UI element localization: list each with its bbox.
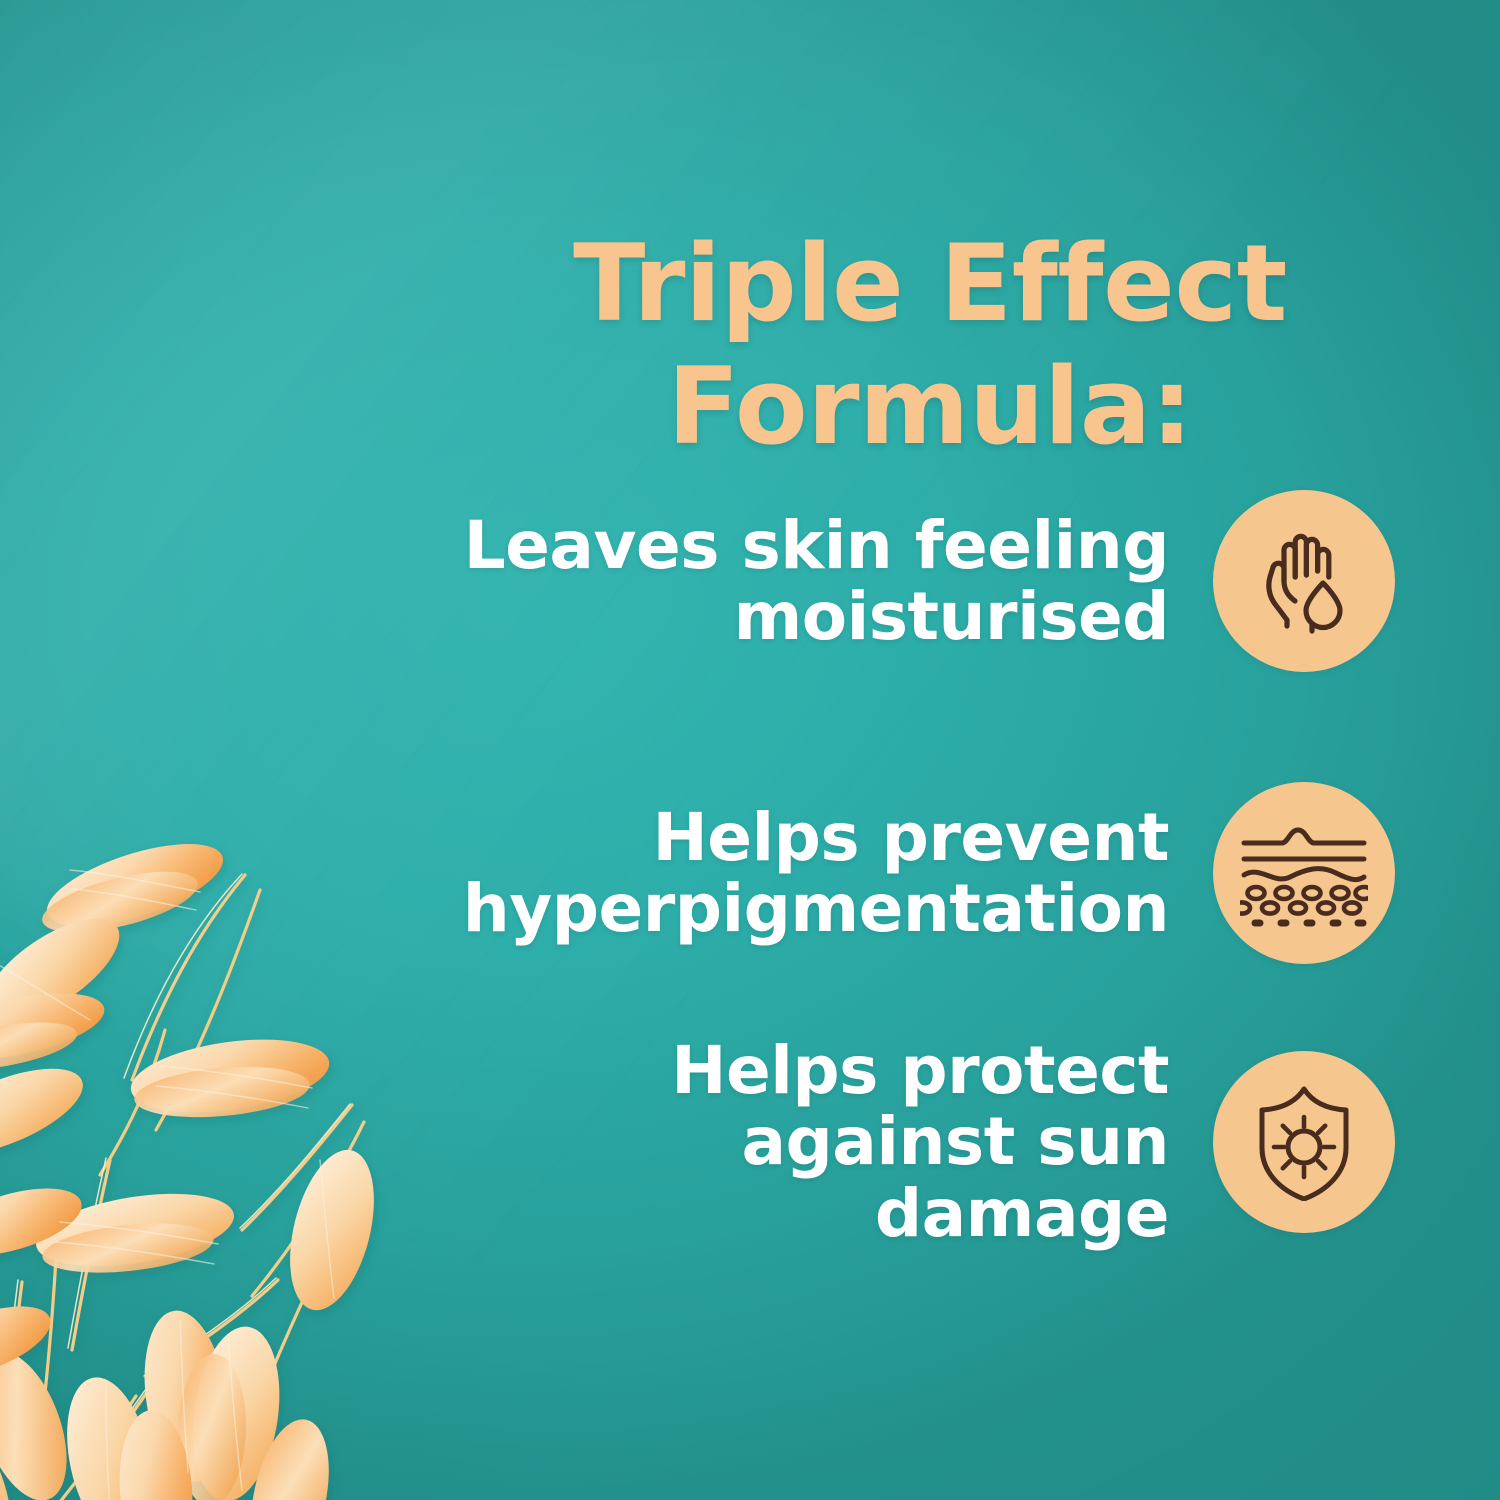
benefit-line: moisturised <box>464 581 1169 652</box>
benefit-icon-badge-moisturised <box>1213 490 1395 672</box>
benefit-line: damage <box>671 1178 1169 1249</box>
benefit-text-moisturised: Leaves skin feeling moisturised <box>464 510 1169 653</box>
skin-layers-icon <box>1240 817 1368 929</box>
benefit-text-hyperpigmentation: Helps prevent hyperpigmentation <box>463 802 1169 945</box>
hand-droplet-icon <box>1248 525 1360 637</box>
benefit-row-hyperpigmentation: Helps prevent hyperpigmentation <box>330 782 1395 964</box>
benefit-row-sun-damage: Helps protect against sun damage <box>330 1035 1395 1249</box>
benefit-icon-badge-sun-damage <box>1213 1051 1395 1233</box>
page-title: Triple Effect Formula: <box>430 223 1430 469</box>
page-title-line-2: Formula: <box>430 346 1430 469</box>
marketing-graphic-canvas: Triple Effect Formula: Leaves skin feeli… <box>0 0 1500 1500</box>
benefit-line: against sun <box>671 1106 1169 1177</box>
benefit-line: Leaves skin feeling <box>464 510 1169 581</box>
benefit-line: hyperpigmentation <box>463 873 1169 944</box>
benefit-line: Helps protect <box>671 1035 1169 1106</box>
benefit-text-sun-damage: Helps protect against sun damage <box>671 1035 1169 1249</box>
benefit-icon-badge-hyperpigmentation <box>1213 782 1395 964</box>
benefit-line: Helps prevent <box>463 802 1169 873</box>
benefit-row-moisturised: Leaves skin feeling moisturised <box>330 490 1395 672</box>
shield-sun-icon <box>1248 1083 1360 1201</box>
page-title-line-1: Triple Effect <box>573 222 1287 345</box>
